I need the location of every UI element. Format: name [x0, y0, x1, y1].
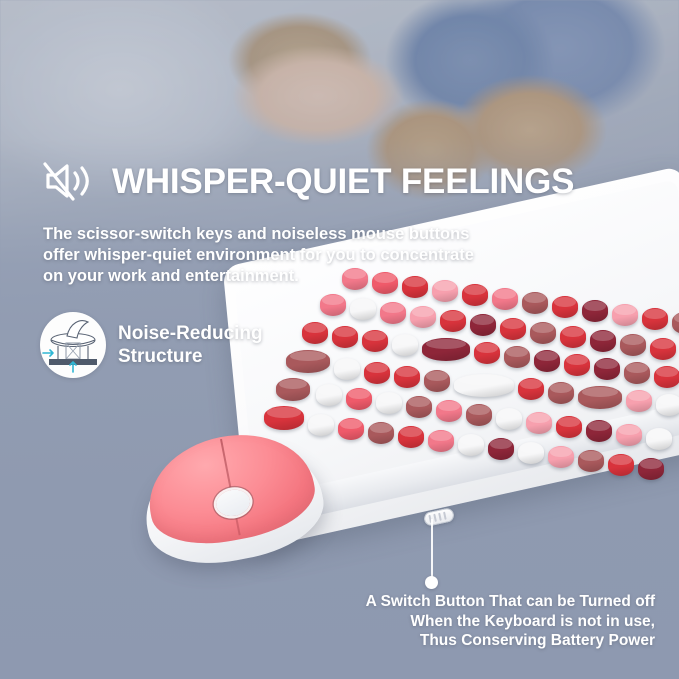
badge-label-line-2: Structure	[118, 345, 263, 368]
keycap	[376, 392, 402, 414]
keycap	[302, 322, 328, 344]
keycap	[440, 310, 466, 332]
keycap	[316, 384, 342, 406]
keycap	[422, 338, 470, 361]
keycap	[642, 308, 668, 330]
keycap	[350, 298, 376, 320]
keycap	[424, 370, 450, 392]
body-line-3: on your work and entertainment.	[43, 266, 543, 287]
keycap	[582, 300, 608, 322]
keycap	[526, 412, 552, 434]
keycap	[654, 366, 679, 388]
keycap	[504, 346, 530, 368]
keycap	[552, 296, 578, 318]
mute-speaker-icon	[42, 158, 98, 204]
keycap	[392, 334, 418, 356]
keycap	[264, 406, 304, 430]
body-line-2: offer whisper-quiet environment for you …	[43, 245, 543, 266]
keycap	[620, 334, 646, 356]
keycap	[338, 418, 364, 440]
keycap	[368, 422, 394, 444]
keycap	[394, 366, 420, 388]
keycap	[362, 330, 388, 352]
keycap	[650, 338, 676, 360]
keycap	[346, 388, 372, 410]
keycap	[436, 400, 462, 422]
keycap	[308, 414, 334, 436]
keycap	[518, 378, 544, 400]
keycap	[672, 312, 679, 334]
keycap	[410, 306, 436, 328]
keycap	[624, 362, 650, 384]
keycap	[398, 426, 424, 448]
keycap	[608, 454, 634, 476]
body-line-1: The scissor-switch keys and noiseless mo…	[43, 224, 543, 245]
switch-button-callout: A Switch Button That can be Turned off W…	[235, 592, 655, 651]
badge-label: Noise-Reducing Structure	[118, 322, 263, 368]
keycap	[488, 438, 514, 460]
callout-line-2: When the Keyboard is not in use,	[235, 612, 655, 632]
keycap	[556, 416, 582, 438]
callout-line-1: A Switch Button That can be Turned off	[235, 592, 655, 612]
keycap	[454, 374, 514, 397]
keycap	[364, 362, 390, 384]
keycap	[276, 378, 310, 401]
keycap	[332, 326, 358, 348]
headline-row: WHISPER-QUIET FEELINGS	[42, 158, 574, 204]
callout-line-3: Thus Conserving Battery Power	[235, 631, 655, 651]
noise-reducing-badge: Noise-Reducing Structure	[40, 312, 263, 378]
keycap	[522, 292, 548, 314]
keycap	[590, 330, 616, 352]
keycap	[530, 322, 556, 344]
keycap	[646, 428, 672, 450]
keycap	[286, 350, 330, 373]
product-feature-banner: WHISPER-QUIET FEELINGS The scissor-switc…	[0, 0, 679, 679]
keycap	[470, 314, 496, 336]
callout-leader-line	[431, 519, 433, 581]
keycap	[578, 450, 604, 472]
keycap	[402, 276, 428, 298]
scissor-switch-diagram-icon	[40, 312, 106, 378]
keycap	[656, 394, 679, 416]
keycap	[432, 280, 458, 302]
keycap	[406, 396, 432, 418]
badge-label-line-1: Noise-Reducing	[118, 322, 263, 345]
keycap	[594, 358, 620, 380]
keycap	[380, 302, 406, 324]
hero-body-copy: The scissor-switch keys and noiseless mo…	[43, 224, 543, 287]
keycap	[548, 382, 574, 404]
keycap	[474, 342, 500, 364]
keycap	[626, 390, 652, 412]
keycap	[334, 358, 360, 380]
keycap	[458, 434, 484, 456]
keycap	[564, 354, 590, 376]
callout-leader-dot	[425, 576, 438, 589]
keycap	[428, 430, 454, 452]
keycap	[372, 272, 398, 294]
keycap	[638, 458, 664, 480]
keycap	[612, 304, 638, 326]
keycap	[466, 404, 492, 426]
keycap	[320, 294, 346, 316]
keycap	[500, 318, 526, 340]
keycap	[578, 386, 622, 409]
keycap	[518, 442, 544, 464]
keycap	[534, 350, 560, 372]
keycap	[560, 326, 586, 348]
keycap	[492, 288, 518, 310]
keycap	[342, 268, 368, 290]
keycap	[548, 446, 574, 468]
keycap	[496, 408, 522, 430]
keycap	[616, 424, 642, 446]
keycap	[586, 420, 612, 442]
page-title: WHISPER-QUIET FEELINGS	[112, 164, 574, 199]
keycap	[462, 284, 488, 306]
